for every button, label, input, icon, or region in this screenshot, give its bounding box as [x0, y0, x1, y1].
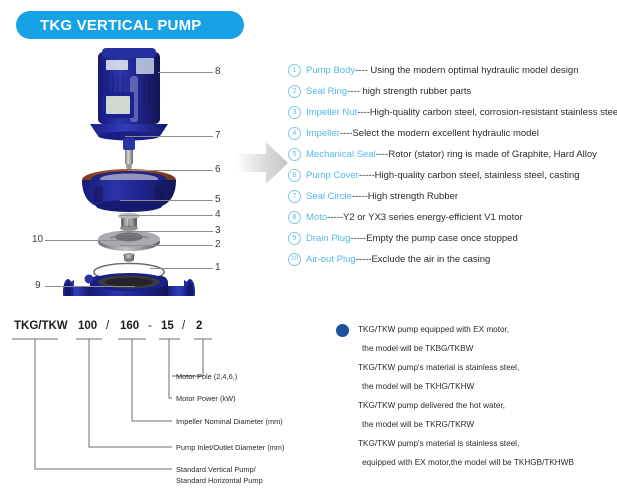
leader-line-1 [150, 268, 213, 269]
note-line: equipped with EX motor,the model will be… [336, 453, 617, 472]
callout-number-5: 5 [215, 194, 221, 205]
callout-number-1: 1 [215, 262, 221, 273]
note-line: TKG/TKW pump's material is stainless ste… [336, 358, 617, 377]
model-label-standard-horizontal: Standard Horizontal Pump [176, 476, 263, 485]
legend-part-desc: -----Exclude the air in the casing [356, 254, 491, 265]
legend-part-name: Mechanical Seal [306, 149, 376, 160]
legend-part-name: Impeller [306, 128, 340, 139]
legend-part-desc: ----Select the modern excellent hydrauli… [340, 128, 539, 139]
parts-legend: 1 Pump Body ---- Using the modern optima… [288, 60, 614, 270]
legend-item: 10 Air-out Plug -----Exclude the air in … [288, 249, 614, 270]
note-line: TKG/TKW pump equipped with EX motor, [336, 320, 617, 339]
page-title-banner: TKG VERTICAL PUMP [16, 11, 244, 39]
leader-line-3 [120, 231, 213, 232]
legend-item: 8 Moto -----Y2 or YX3 series energy-effi… [288, 207, 614, 228]
circled-number-icon: 3 [288, 106, 301, 119]
model-label-motor-pole: Motor Pole (2,4,6,) [176, 372, 237, 381]
legend-part-name: Moto [306, 212, 327, 223]
callout-number-7: 7 [215, 130, 221, 141]
legend-part-name: Pump Cover [306, 170, 359, 181]
note-line: the model will be TKHG/TKHW [336, 377, 617, 396]
legend-item: 5 Mechanical Seal ----Rotor (stator) rin… [288, 144, 614, 165]
legend-part-desc: -----Y2 or YX3 series energy-efficient V… [327, 212, 523, 223]
legend-item: 3 Impeller Nut ----High-quality carbon s… [288, 102, 614, 123]
legend-item: 9 Drain Plug -----Empty the pump case on… [288, 228, 614, 249]
legend-part-desc: ----Rotor (stator) ring is made of Graph… [376, 149, 597, 160]
legend-item: 2 Seal Ring ---- high strength rubber pa… [288, 81, 614, 102]
product-spec-sheet: TKG VERTICAL PUMP [0, 0, 617, 500]
note-line: the model will be TKRG/TKRW [336, 415, 617, 434]
callout-number-6: 6 [215, 164, 221, 175]
motor-part [90, 48, 168, 141]
legend-part-name: Seal Ring [306, 86, 347, 97]
legend-part-name: Pump Body [306, 65, 355, 76]
note-line: TKG/TKW pump's material is stainless ste… [336, 434, 617, 453]
right-arrow-icon [236, 140, 288, 186]
note-line: the model will be TKBG/TKBW [336, 339, 617, 358]
model-label-standard-vertical: Standard Vertical Pump/ [176, 465, 256, 474]
legend-part-name: Impeller Nut [306, 107, 357, 118]
legend-part-desc: ----High-quality carbon steel, corrosion… [357, 107, 617, 118]
legend-item: 1 Pump Body ---- Using the modern optima… [288, 60, 614, 81]
leader-line-10 [45, 240, 120, 241]
leader-line-4 [120, 215, 213, 216]
page-title: TKG VERTICAL PUMP [16, 17, 201, 34]
leader-line-9 [45, 286, 135, 287]
model-label-inlet-outlet-dia: Pump Inlet/Outlet Diameter (mm) [176, 443, 284, 452]
model-leader-lines [0, 308, 320, 500]
circled-number-icon: 7 [288, 190, 301, 203]
legend-part-desc: ---- Using the modern optimal hydraulic … [355, 65, 578, 76]
callout-number-2: 2 [215, 239, 221, 250]
circled-number-icon: 1 [288, 64, 301, 77]
model-variant-notes: TKG/TKW pump equipped with EX motor, the… [336, 320, 617, 472]
impeller-nut-part [123, 253, 135, 262]
note-line: TKG/TKW pump delivered the hot water, [336, 396, 617, 415]
leader-line-2 [120, 245, 213, 246]
pump-body-part [63, 273, 195, 296]
leader-line-6 [128, 170, 213, 171]
legend-part-name: Seal Circle [306, 191, 352, 202]
callout-number-9: 9 [35, 280, 41, 291]
model-label-impeller-dia: Impeller Nominal Diameter (mm) [176, 417, 283, 426]
callout-number-4: 4 [215, 209, 221, 220]
legend-part-desc: -----High strength Rubber [352, 191, 458, 202]
circled-number-icon: 4 [288, 127, 301, 140]
leader-line-8 [158, 72, 213, 73]
circled-number-icon: 10 [288, 253, 301, 266]
legend-item: 4 Impeller ----Select the modern excelle… [288, 123, 614, 144]
model-label-motor-power: Motor Power (kW) [176, 394, 236, 403]
legend-part-desc: -----High-quality carbon steel, stainles… [359, 170, 580, 181]
legend-part-desc: -----Empty the pump case once stopped [350, 233, 517, 244]
callout-number-10: 10 [32, 234, 43, 245]
model-code-breakdown: TKG/TKW 100 / 160 - 15 / 2 [0, 308, 320, 500]
circled-number-icon: 6 [288, 169, 301, 182]
pump-cover-part [82, 169, 176, 212]
circled-number-icon: 9 [288, 232, 301, 245]
legend-part-name: Air-out Plug [306, 254, 356, 265]
circled-number-icon: 5 [288, 148, 301, 161]
callout-number-8: 8 [215, 66, 221, 77]
leader-line-7 [125, 136, 213, 137]
callout-number-3: 3 [215, 225, 221, 236]
legend-part-desc: ---- high strength rubber parts [347, 86, 471, 97]
exploded-pump-illustration [22, 46, 262, 296]
circled-number-icon: 8 [288, 211, 301, 224]
legend-item: 7 Seal Circle -----High strength Rubber [288, 186, 614, 207]
legend-part-name: Drain Plug [306, 233, 350, 244]
circled-number-icon: 2 [288, 85, 301, 98]
legend-item: 6 Pump Cover -----High-quality carbon st… [288, 165, 614, 186]
bullet-dot-icon [336, 324, 349, 337]
leader-line-5 [120, 200, 213, 201]
